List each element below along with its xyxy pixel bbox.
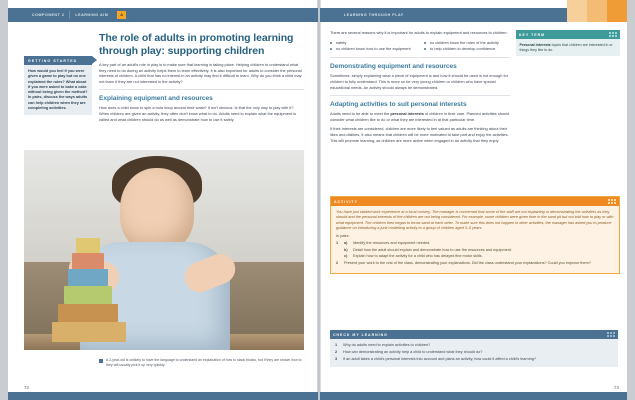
list-item: Explain how to adapt the activity for a … — [344, 254, 614, 259]
photo-child-stacking-blocks — [24, 150, 304, 350]
section-heading-adapting: Adapting activities to suit personal int… — [330, 101, 510, 108]
list-item: Detail how the adult should explain and … — [344, 248, 614, 253]
list-item: so children know how to use the equipmen… — [330, 46, 416, 51]
learning-aim-label: LEARNING AIM — [70, 8, 113, 22]
component-label: COMPONENT 2 — [27, 8, 69, 22]
list-item: How can demonstrating an activity help a… — [335, 350, 613, 355]
activity-header: ACTIVITY — [331, 197, 619, 206]
activity-body: You have just started work experience at… — [331, 206, 619, 273]
key-term-label: KEY TERM — [519, 33, 545, 37]
running-header-left: COMPONENT 2 LEARNING AIM A — [8, 8, 318, 22]
reasons-bullet-columns: safety so children know how to use the e… — [330, 40, 510, 53]
learning-aim-badge: A — [117, 11, 126, 19]
decorative-dots-icon — [609, 32, 617, 37]
section-divider — [330, 57, 510, 58]
list-item: safety — [330, 40, 416, 45]
section-divider — [99, 89, 304, 90]
check-my-learning-list: Why do adults need to explain activities… — [335, 343, 613, 362]
reasons-column-2: so children know the rules of the activi… — [424, 40, 510, 53]
page-title: The role of adults in promoting learning… — [99, 32, 304, 57]
key-term-word: Personal interests — [520, 43, 551, 47]
reasons-intro: There are several reasons why it is impo… — [330, 30, 510, 36]
right-main-column: There are several reasons why it is impo… — [330, 30, 510, 147]
left-main-column: A key part of an adult's role in play is… — [99, 62, 304, 126]
key-term-body: Personal interests topics that children … — [516, 39, 620, 56]
footer-rule-left — [8, 392, 318, 400]
list-item: Why do adults need to explain activities… — [335, 343, 613, 348]
check-my-learning-header: CHECK MY LEARNING — [330, 330, 618, 339]
footer-rule-right — [320, 392, 627, 400]
adapting-paragraph-1: Adults need to be able to meet the perso… — [330, 111, 510, 122]
getting-started-box: GETTING STARTED How would you feel if yo… — [24, 56, 92, 115]
unit-label: LEARNING THROUGH PLAY — [339, 8, 409, 22]
activity-scenario: You have just started work experience at… — [336, 210, 614, 231]
decorative-dots-icon — [608, 199, 616, 204]
activity-item-2: Present your work to the rest of the cla… — [336, 261, 614, 266]
list-item: If an adult takes a child's personal int… — [335, 357, 613, 362]
section-heading-explaining: Explaining equipment and resources — [99, 95, 304, 102]
activity-pairs-label: In pairs: — [336, 234, 614, 239]
section-heading-demonstrating: Demonstrating equipment and resources — [330, 63, 510, 70]
textbook-spread: COMPONENT 2 LEARNING AIM A LEARNING THRO… — [0, 0, 635, 400]
getting-started-text: How would you feel if you were given a g… — [24, 65, 92, 115]
check-my-learning-label: CHECK MY LEARNING — [333, 333, 388, 337]
section-divider — [330, 95, 510, 96]
key-term-header: KEY TERM — [516, 30, 620, 39]
block-tower — [46, 222, 132, 342]
list-item: Identify the resources and equipment nee… — [344, 241, 614, 246]
reasons-column-1: safety so children know how to use the e… — [330, 40, 416, 53]
check-my-learning-box: CHECK MY LEARNING Why do adults need to … — [330, 330, 618, 367]
activity-label: ACTIVITY — [334, 200, 358, 204]
getting-started-header: GETTING STARTED — [24, 56, 92, 65]
decorative-dots-icon — [607, 332, 615, 337]
page-gutter — [317, 0, 321, 400]
key-term-box: KEY TERM Personal interests topics that … — [516, 30, 620, 56]
intro-paragraph: A key part of an adult's role in play is… — [99, 62, 304, 84]
demonstrating-paragraph: Sometimes, simply explaining what a piec… — [330, 73, 510, 90]
list-item: to help children to develop confidence. — [424, 46, 510, 51]
caption-marker-icon — [99, 359, 103, 363]
page-number-right: 73 — [614, 385, 619, 390]
getting-started-label: GETTING STARTED — [24, 59, 77, 63]
check-my-learning-body: Why do adults need to explain activities… — [330, 339, 618, 367]
page-number-left: 72 — [24, 385, 29, 390]
list-item: so children know the rules of the activi… — [424, 40, 510, 45]
adapting-text-a: Adults need to be able to meet the — [330, 111, 390, 116]
key-term-inline: personal interests — [390, 111, 424, 116]
photo-caption: A 2-year-old is unlikely to have the lan… — [99, 358, 304, 368]
caption-text: A 2-year-old is unlikely to have the lan… — [106, 358, 304, 368]
activity-sublist: Identify the resources and equipment nee… — [344, 241, 614, 259]
corner-tabs — [567, 0, 627, 22]
explaining-paragraph: How does a child know to spin a hula hoo… — [99, 105, 304, 122]
adapting-paragraph-2: If their interests are considered, child… — [330, 126, 510, 143]
activity-box: ACTIVITY You have just started work expe… — [330, 196, 620, 274]
activity-list: Identify the resources and equipment nee… — [336, 241, 614, 266]
activity-item-1: Identify the resources and equipment nee… — [336, 241, 614, 259]
